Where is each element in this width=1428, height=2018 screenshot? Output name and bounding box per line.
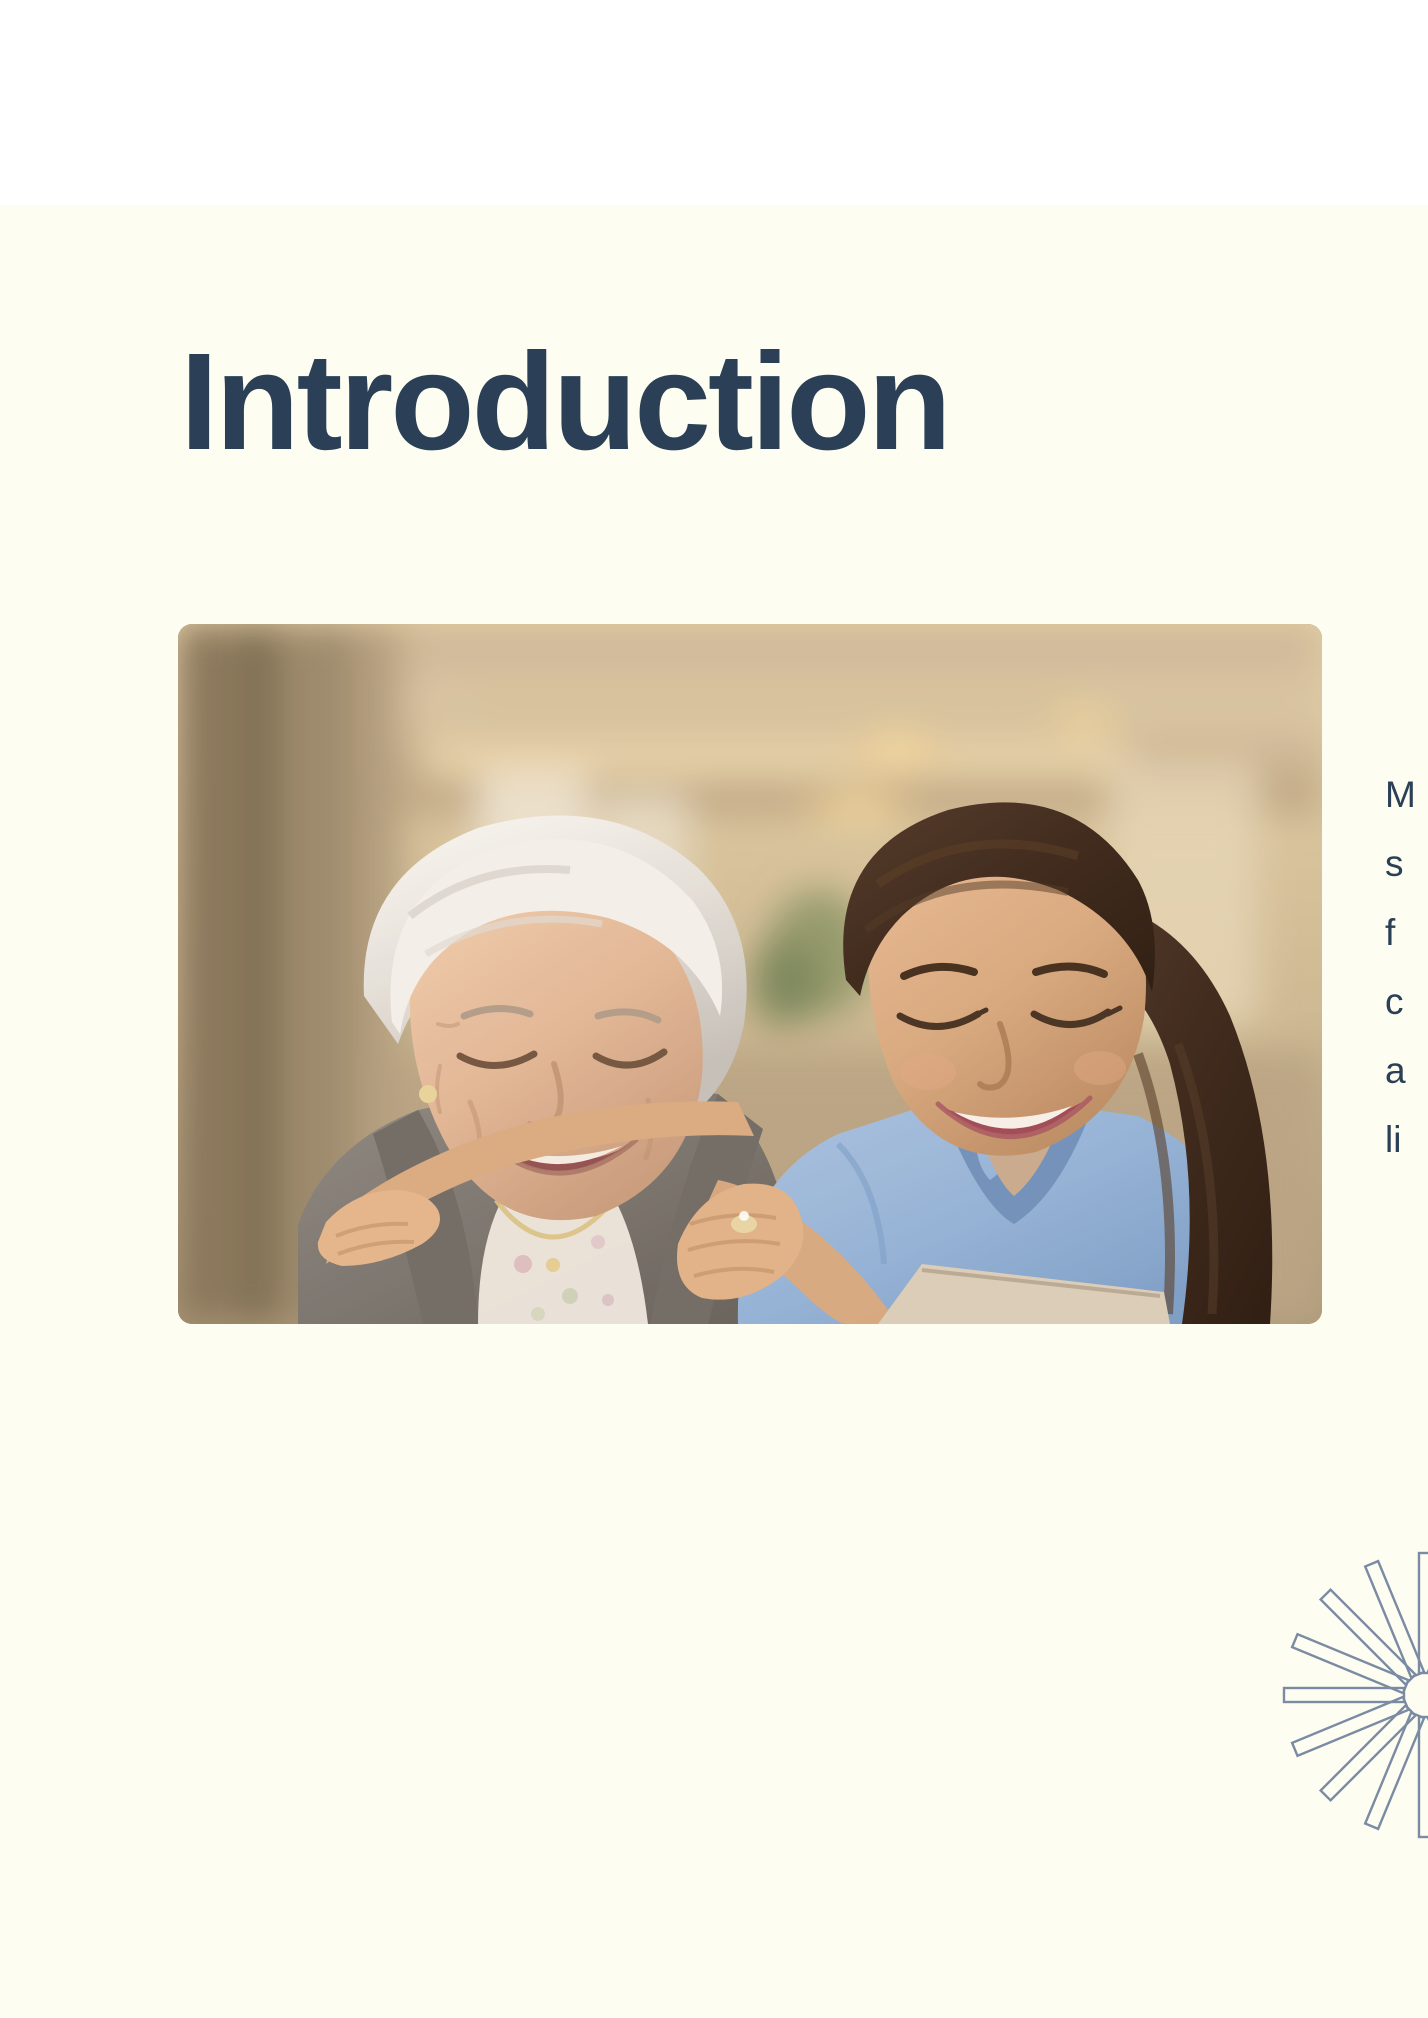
body-line: a — [1385, 1036, 1428, 1105]
body-line: f — [1385, 898, 1428, 967]
photo-artwork — [178, 624, 1322, 1324]
caregiver-and-elderly-woman-photo — [178, 624, 1322, 1324]
body-line: s — [1385, 829, 1428, 898]
page-title: Introduction — [180, 333, 949, 471]
body-line: c — [1385, 967, 1428, 1036]
sunburst-decoration — [1281, 1550, 1428, 1840]
body-line: M — [1385, 760, 1428, 829]
body-line: li — [1385, 1105, 1428, 1174]
body-text-column: M s f c a li — [1385, 760, 1428, 1174]
slide-canvas: Introduction — [0, 205, 1428, 2018]
